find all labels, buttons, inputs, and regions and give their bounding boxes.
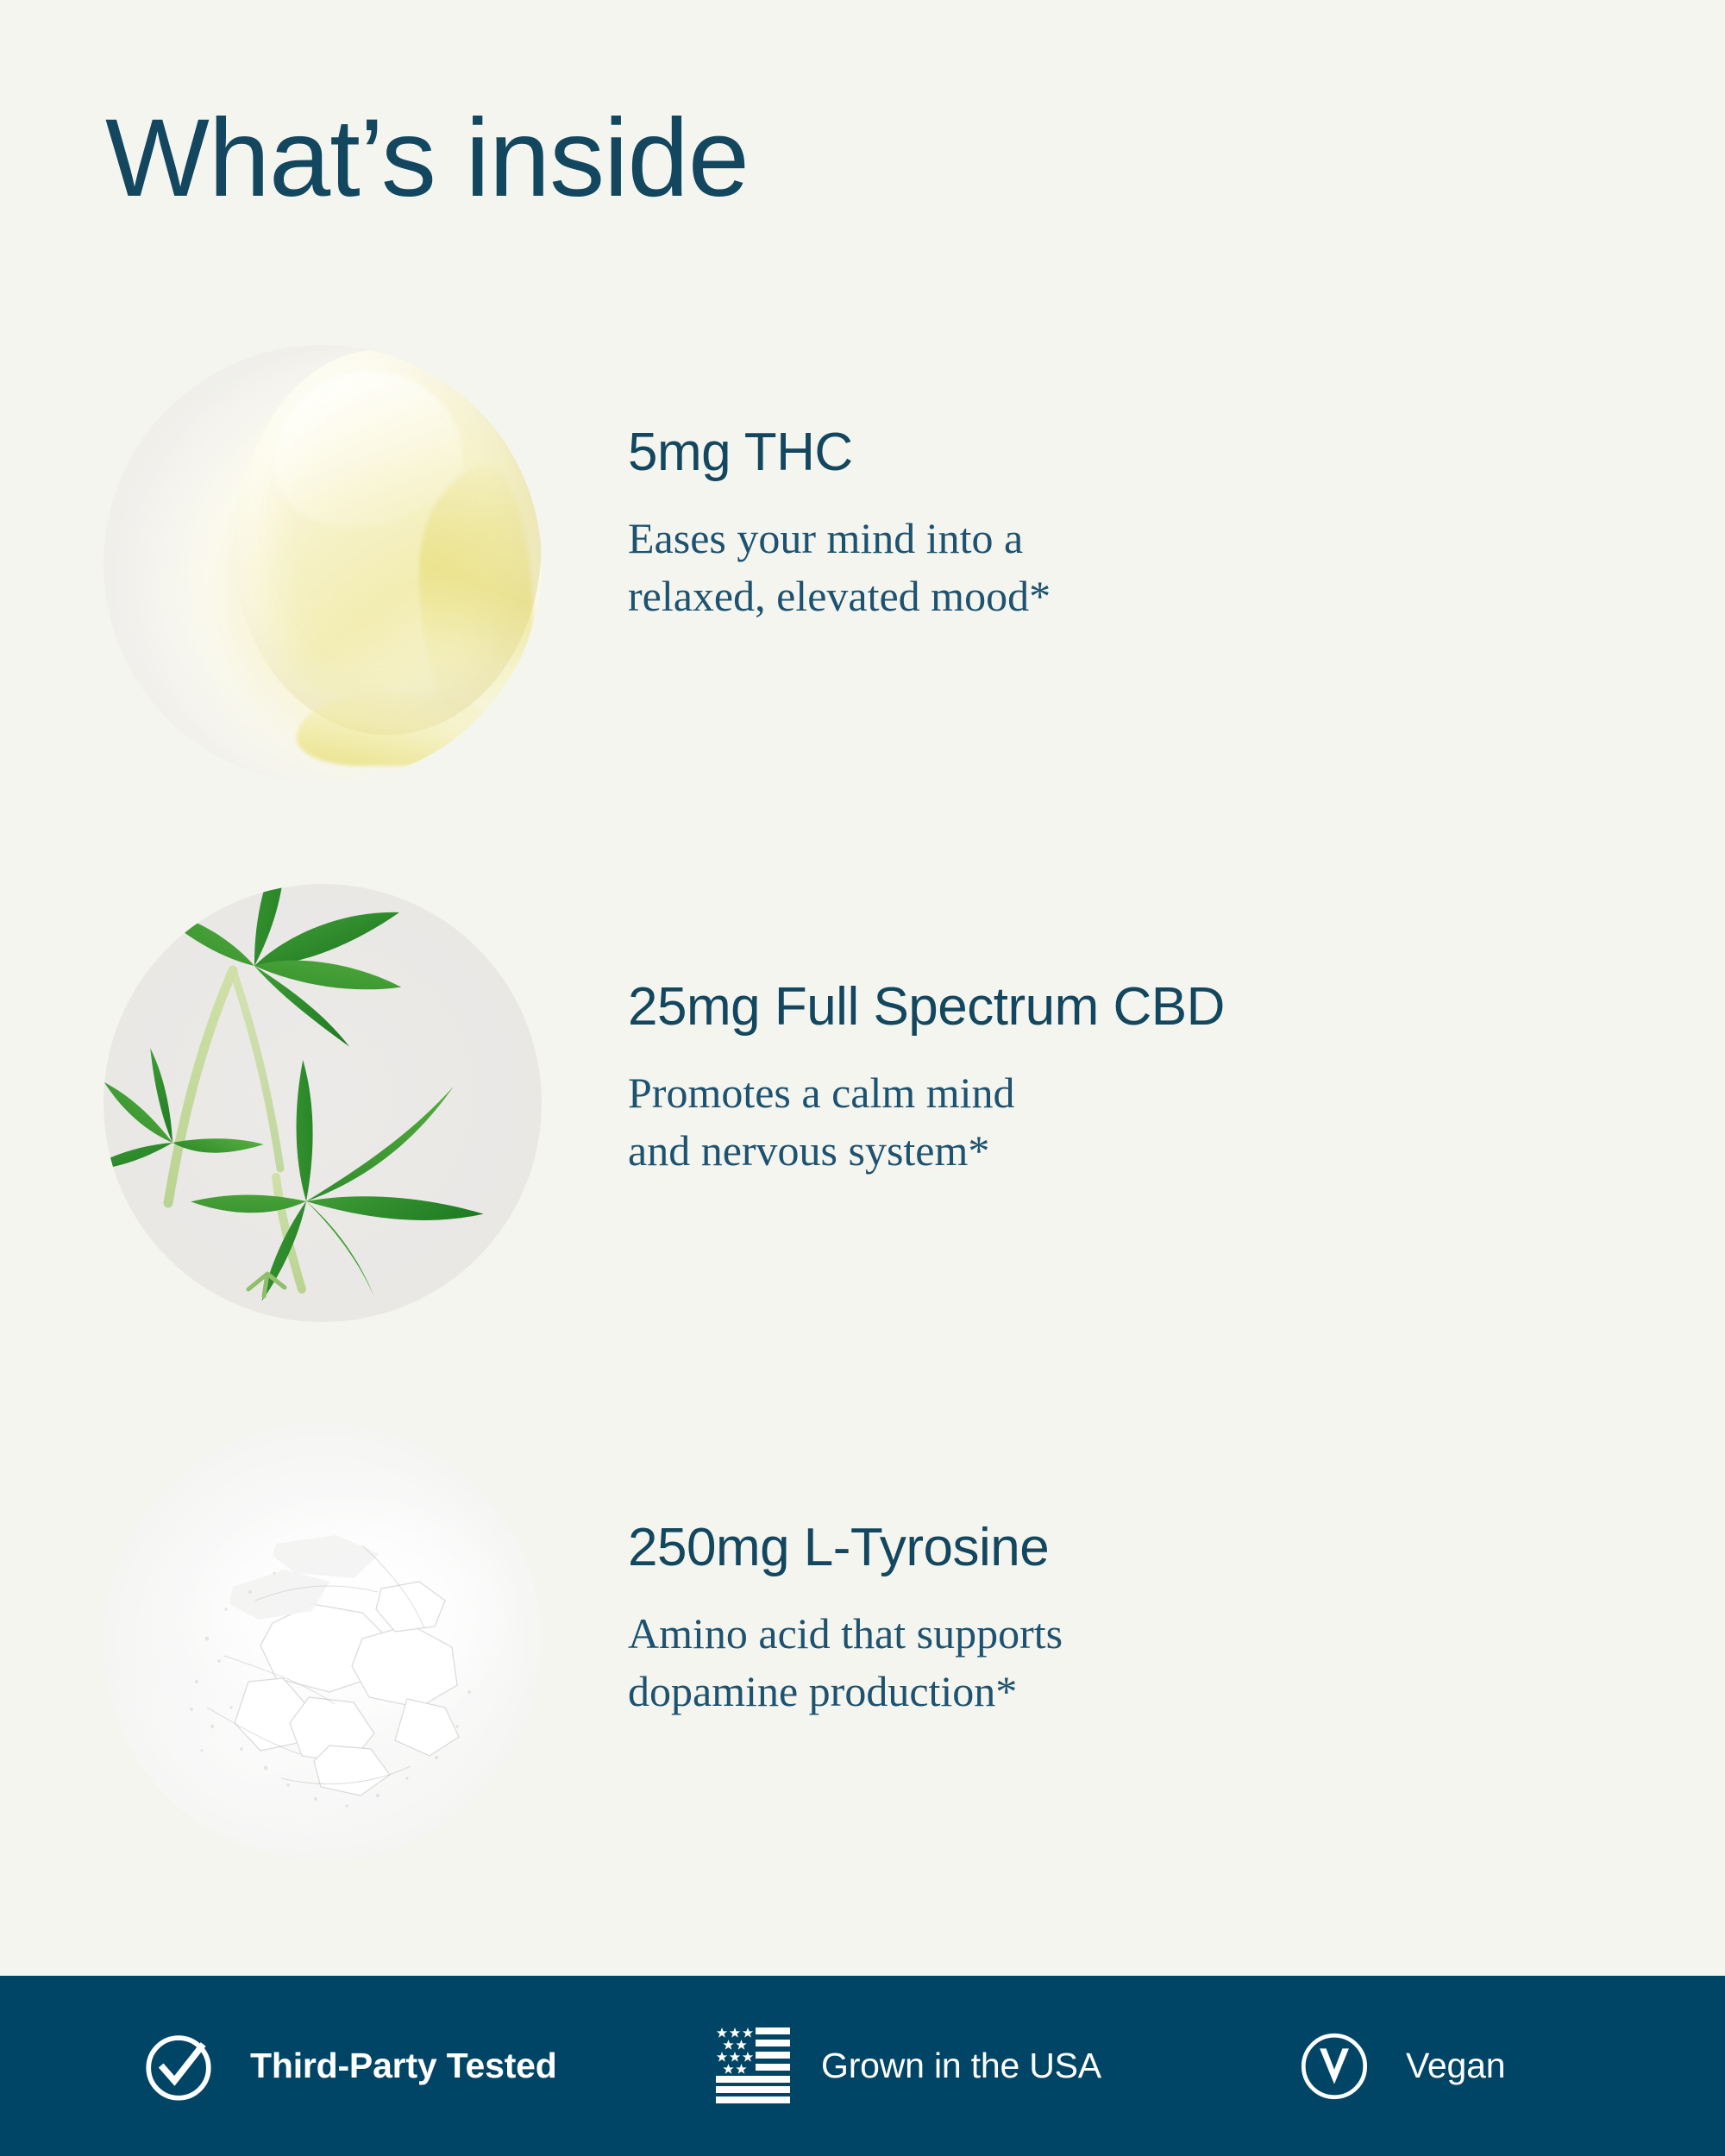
- oil-droplet-image: [103, 345, 542, 783]
- vegan-v-circle-icon: [1294, 2026, 1375, 2107]
- cannabis-leaf-image: [103, 884, 542, 1322]
- page-title: What’s inside: [105, 103, 749, 214]
- ingredient-description-line: Amino acid that supports: [628, 1605, 1620, 1663]
- ingredient-name: 5mg THC: [628, 424, 1620, 480]
- check-circle-svg: [138, 2026, 219, 2107]
- cannabis-leaf-graphic: [103, 884, 542, 1322]
- ingredient-description-line: Eases your mind into a: [628, 510, 1620, 567]
- badge-third-party-tested: Third-Party Tested: [138, 2026, 557, 2107]
- trust-banner: Third-Party Tested: [0, 1976, 1725, 2156]
- ingredient-description: Amino acid that supports dopamine produc…: [628, 1605, 1620, 1720]
- oil-droplet-graphic: [103, 345, 542, 783]
- usa-flag-icon: [716, 2026, 790, 2107]
- white-powder-graphic: [103, 1423, 542, 1861]
- badge-label: Third-Party Tested: [250, 2046, 557, 2086]
- ingredient-description-line: dopamine production*: [628, 1663, 1620, 1720]
- badge-label: Grown in the USA: [821, 2046, 1101, 2086]
- vegan-v-circle-svg: [1294, 2026, 1375, 2107]
- ingredient-text-block: 5mg THC Eases your mind into a relaxed, …: [628, 424, 1620, 624]
- whats-inside-page: What’s inside 5mg THC Eases your mind in…: [0, 0, 1725, 2156]
- ingredient-name: 250mg L-Tyrosine: [628, 1520, 1620, 1576]
- ingredient-description: Promotes a calm mind and nervous system*: [628, 1064, 1620, 1179]
- ingredient-name: 25mg Full Spectrum CBD: [628, 979, 1620, 1035]
- usa-flag-svg: [716, 2026, 790, 2107]
- white-powder-image: [103, 1423, 542, 1861]
- powder-texture-svg: [103, 1423, 542, 1861]
- ingredient-description-line: Promotes a calm mind: [628, 1064, 1620, 1122]
- ingredient-text-block: 250mg L-Tyrosine Amino acid that support…: [628, 1520, 1620, 1720]
- ingredient-text-block: 25mg Full Spectrum CBD Promotes a calm m…: [628, 979, 1620, 1179]
- check-circle-icon: [138, 2026, 219, 2107]
- badge-label: Vegan: [1406, 2046, 1505, 2086]
- oil-drip-shape: [297, 695, 499, 765]
- ingredient-description-line: and nervous system*: [628, 1122, 1620, 1180]
- ingredient-description-line: relaxed, elevated mood*: [628, 567, 1620, 625]
- ingredient-description: Eases your mind into a relaxed, elevated…: [628, 510, 1620, 624]
- badge-grown-in-usa: Grown in the USA: [716, 2026, 1101, 2107]
- cannabis-leaf-svg: [103, 884, 542, 1322]
- badge-vegan: Vegan: [1294, 2026, 1505, 2107]
